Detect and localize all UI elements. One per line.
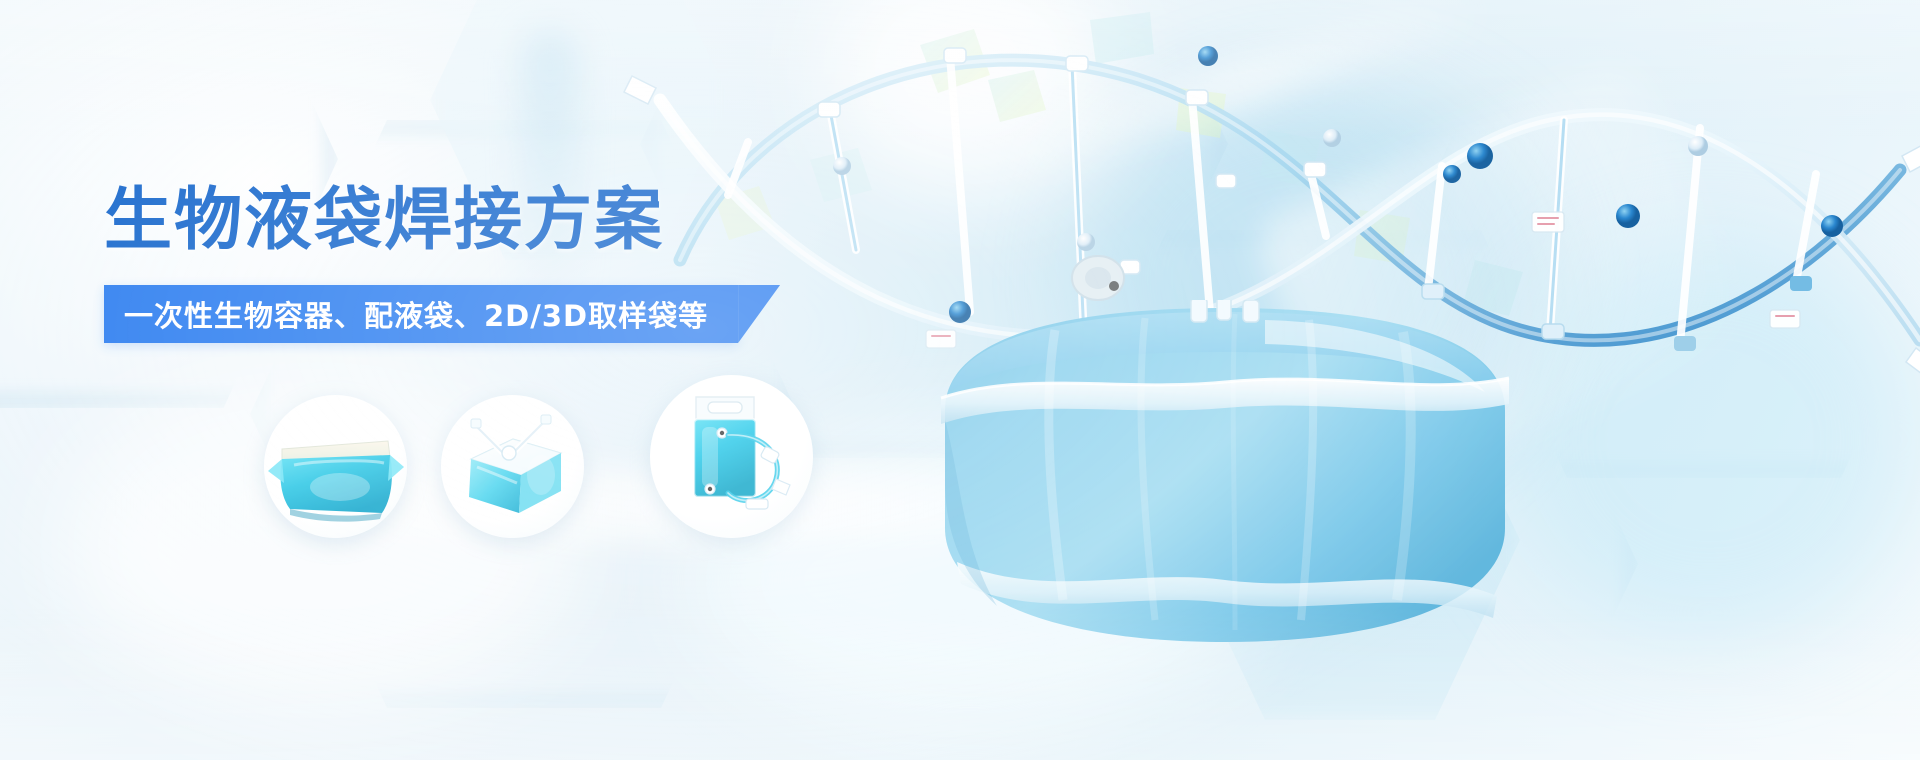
- subtitle-text: 一次性生物容器、配液袋、2D/3D取样袋等: [124, 293, 708, 335]
- subtitle-bar: 一次性生物容器、配液袋、2D/3D取样袋等: [104, 285, 738, 343]
- large-bioreactor-bag: [905, 300, 1545, 650]
- page-title: 生物液袋焊接方案: [104, 186, 664, 257]
- product-thumb-pillow-fluid-bag[interactable]: [264, 395, 407, 538]
- hero-banner: 生物液袋焊接方案 一次性生物容器、配液袋、2D/3D取样袋等: [0, 0, 1920, 760]
- product-thumb-sampling-bag[interactable]: [650, 375, 813, 538]
- subtitle-banner: 一次性生物容器、配液袋、2D/3D取样袋等: [104, 285, 738, 343]
- product-thumb-cube-3d-bag[interactable]: [441, 395, 584, 538]
